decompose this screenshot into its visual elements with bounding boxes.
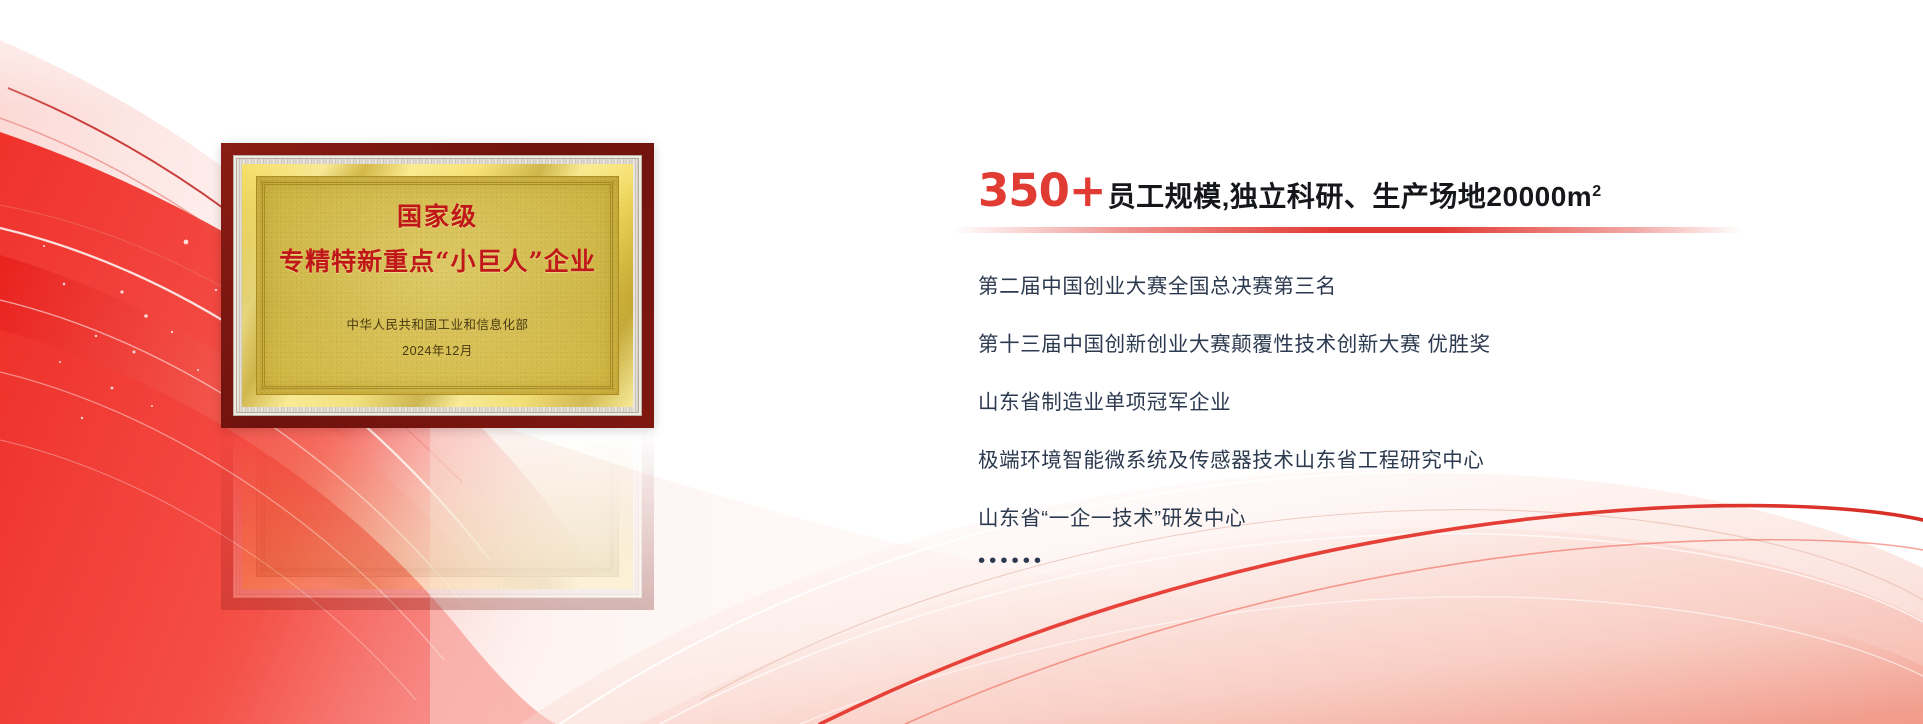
award-list: 第二届中国创业大赛全国总决赛第三名 第十三届中国创新创业大赛颠覆性技术创新大赛 … xyxy=(978,269,1818,573)
award-item: 山东省制造业单项冠军企业 xyxy=(978,385,1818,415)
plaque-title: 国家级 xyxy=(397,197,478,233)
award-item: 第二届中国创业大赛全国总决赛第三名 xyxy=(978,269,1818,299)
plaque-issuer: 中华人民共和国工业和信息化部 xyxy=(346,314,528,333)
plaque-silver-band: 国家级 专精特新重点“小巨人”企业 中华人民共和国工业和信息化部 2024年12… xyxy=(233,155,642,416)
plaque-subtitle: 专精特新重点“小巨人”企业 xyxy=(279,242,596,278)
headline-text: 员工规模‚独立科研、生产场地20000m xyxy=(1108,183,1593,211)
award-list-ellipsis: •••••• xyxy=(978,549,1818,573)
headline-underline-rule xyxy=(952,227,1742,233)
content-column: 350+ 员工规模‚独立科研、生产场地20000m 2 第二届中国创业大赛全国总… xyxy=(978,168,1818,573)
plaque-gold-plate: 国家级 专精特新重点“小巨人”企业 中华人民共和国工业和信息化部 2024年12… xyxy=(242,164,633,407)
award-item: 第十三届中国创新创业大赛颠覆性技术创新大赛 优胜奖 xyxy=(978,327,1818,357)
headline: 350+ 员工规模‚独立科研、生产场地20000m 2 xyxy=(978,168,1818,213)
headline-superscript: 2 xyxy=(1592,184,1601,200)
banner-stage: 国家级 专精特新重点“小巨人”企业 中华人民共和国工业和信息化部 2024年12… xyxy=(0,0,1923,724)
award-item: 极端环境智能微系统及传感器技术山东省工程研究中心 xyxy=(978,443,1818,473)
award-item: 山东省“一企一技术”研发中心 xyxy=(978,501,1818,531)
plaque-outer-frame: 国家级 专精特新重点“小巨人”企业 中华人民共和国工业和信息化部 2024年12… xyxy=(221,143,654,428)
plaque-inner-panel: 国家级 专精特新重点“小巨人”企业 中华人民共和国工业和信息化部 2024年12… xyxy=(256,176,619,395)
headline-number: 350+ xyxy=(978,168,1106,213)
award-plaque: 国家级 专精特新重点“小巨人”企业 中华人民共和国工业和信息化部 2024年12… xyxy=(221,143,654,428)
plaque-date: 2024年12月 xyxy=(402,340,473,359)
